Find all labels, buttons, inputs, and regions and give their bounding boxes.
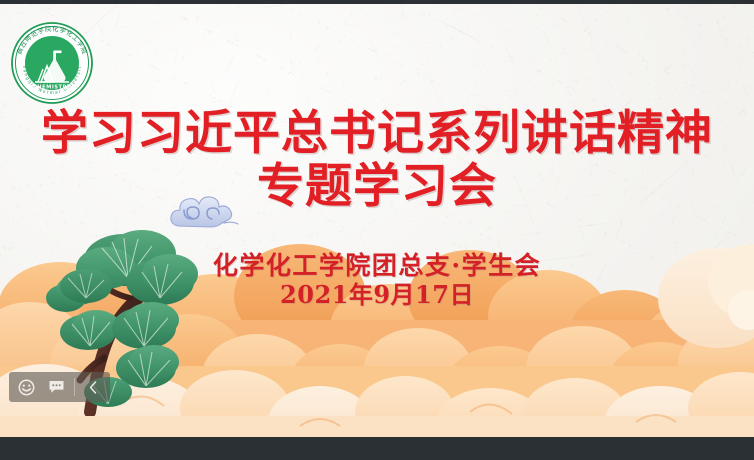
slide-title-line-2: 专题学习会 [0,161,754,214]
slide-title: 学习习近平总书记系列讲话精神 专题学习会 [0,108,754,213]
collapse-toolbar-button[interactable] [78,372,108,402]
slide-subtitle-date: 2021年9月17日 [0,281,754,310]
top-chrome-bar [0,0,754,4]
emoji-picker-button[interactable] [11,372,41,402]
slide-title-line-1: 学习习近平总书记系列讲话精神 [0,108,754,161]
slide-subtitle: 化学化工学院团总支·学生会 2021年9月17日 [0,250,754,310]
shangqiu-normal-university-chemistry-emblem: 商丘师范学院化学化工学院 Shangqiu Normal University … [11,22,93,104]
floating-toolbar[interactable] [9,372,110,402]
bottom-chrome-bar [0,437,754,460]
toolbar-divider [74,378,75,396]
chevron-left-icon [87,380,100,395]
comments-button[interactable] [41,372,71,402]
slide-subtitle-organization: 化学化工学院团总支·学生会 [0,250,754,281]
chat-bubble-icon [48,379,65,395]
smiley-icon [18,379,35,396]
presentation-slide-viewer: 商丘师范学院化学化工学院 Shangqiu Normal University … [0,0,754,460]
emblem-inner-label: CHEMISTRY [33,85,71,91]
